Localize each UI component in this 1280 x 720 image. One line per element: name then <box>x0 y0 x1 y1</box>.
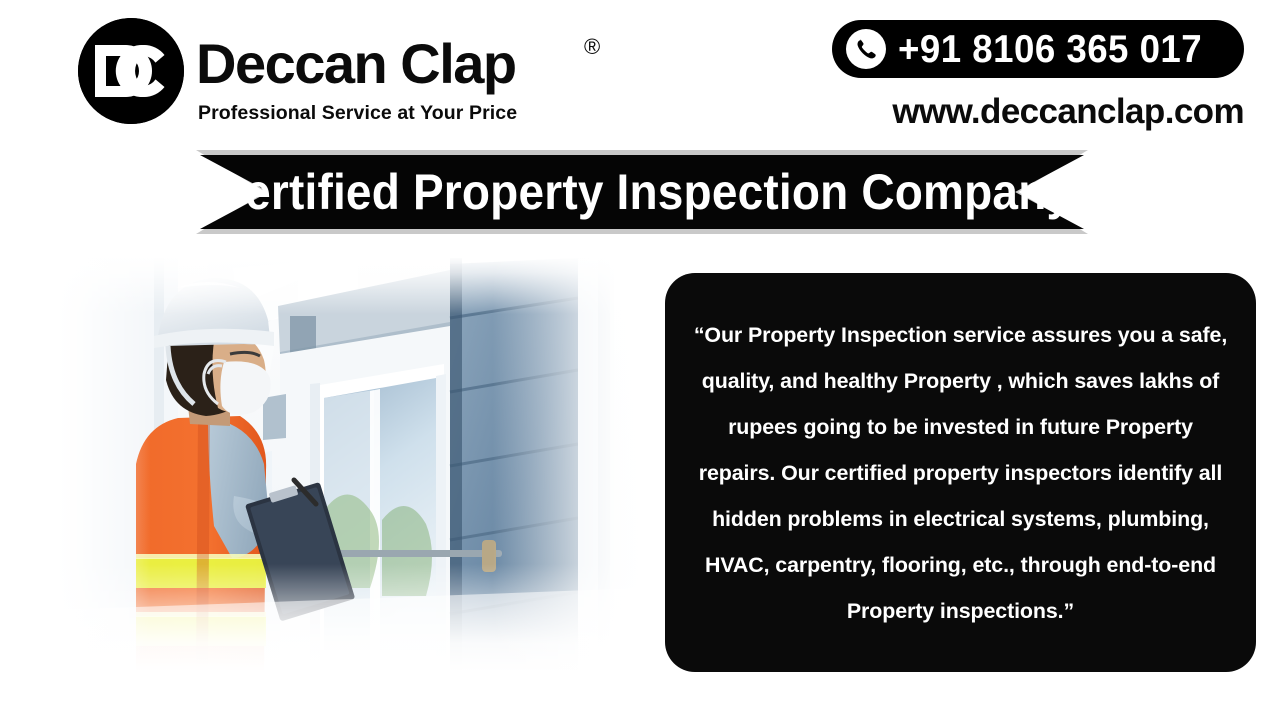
headline-ribbon: Certified Property Inspection Company <box>196 150 1088 234</box>
brand-logo: Deccan Clap ® Professional Service at Yo… <box>78 14 548 130</box>
brand-tagline: Professional Service at Your Price <box>198 104 517 124</box>
quote-card: “Our Property Inspection service assures… <box>665 273 1256 672</box>
phone-icon <box>846 29 886 69</box>
quote-text: “Our Property Inspection service assures… <box>693 312 1228 634</box>
promotional-poster: Deccan Clap ® Professional Service at Yo… <box>0 0 1280 720</box>
phone-button[interactable]: +91 8106 365 017 <box>832 20 1244 78</box>
registered-trademark-icon: ® <box>584 36 600 58</box>
dc-monogram-icon <box>78 18 184 124</box>
inspector-photo <box>58 258 644 670</box>
brand-name: Deccan Clap <box>196 36 516 92</box>
phone-number: +91 8106 365 017 <box>898 30 1202 69</box>
contact-block: +91 8106 365 017 www.deccanclap.com <box>824 14 1244 130</box>
headline-text: Certified Property Inspection Company <box>232 150 1053 234</box>
website-url[interactable]: www.deccanclap.com <box>892 94 1244 129</box>
